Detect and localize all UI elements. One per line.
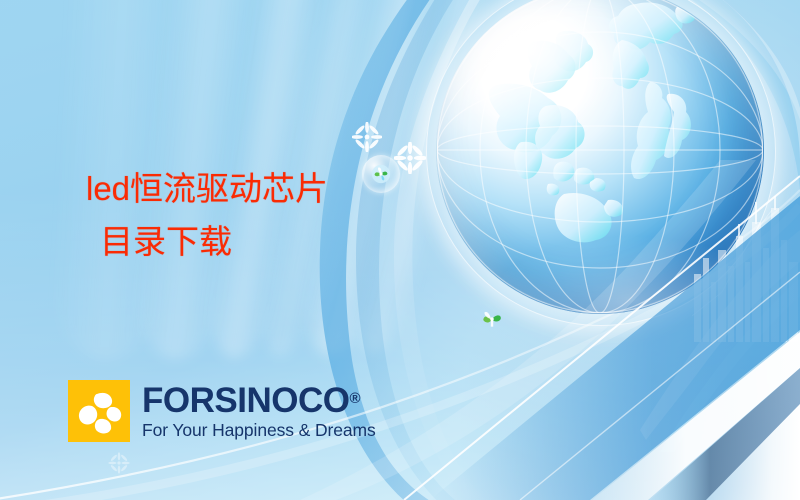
page-title-line-2: 目录下载 (86, 215, 426, 268)
brand-name: FORSINOCO® (142, 383, 376, 418)
four-petal-flower-icon (68, 380, 130, 442)
banner-canvas: led恒流驱动芯片 目录下载 FORSINOCO® For Your Happi… (0, 0, 800, 500)
page-title: led恒流驱动芯片 目录下载 (86, 162, 426, 269)
leaf-sprout-icon (479, 305, 505, 331)
brand-tagline: For Your Happiness & Dreams (142, 422, 376, 440)
registered-trademark-icon: ® (349, 390, 360, 407)
brand-name-text: FORSINOCO (142, 381, 349, 420)
page-title-line-1: led恒流驱动芯片 (86, 170, 328, 207)
brand-logo[interactable]: FORSINOCO® For Your Happiness & Dreams (68, 380, 376, 442)
brand-logo-text: FORSINOCO® For Your Happiness & Dreams (142, 383, 376, 440)
